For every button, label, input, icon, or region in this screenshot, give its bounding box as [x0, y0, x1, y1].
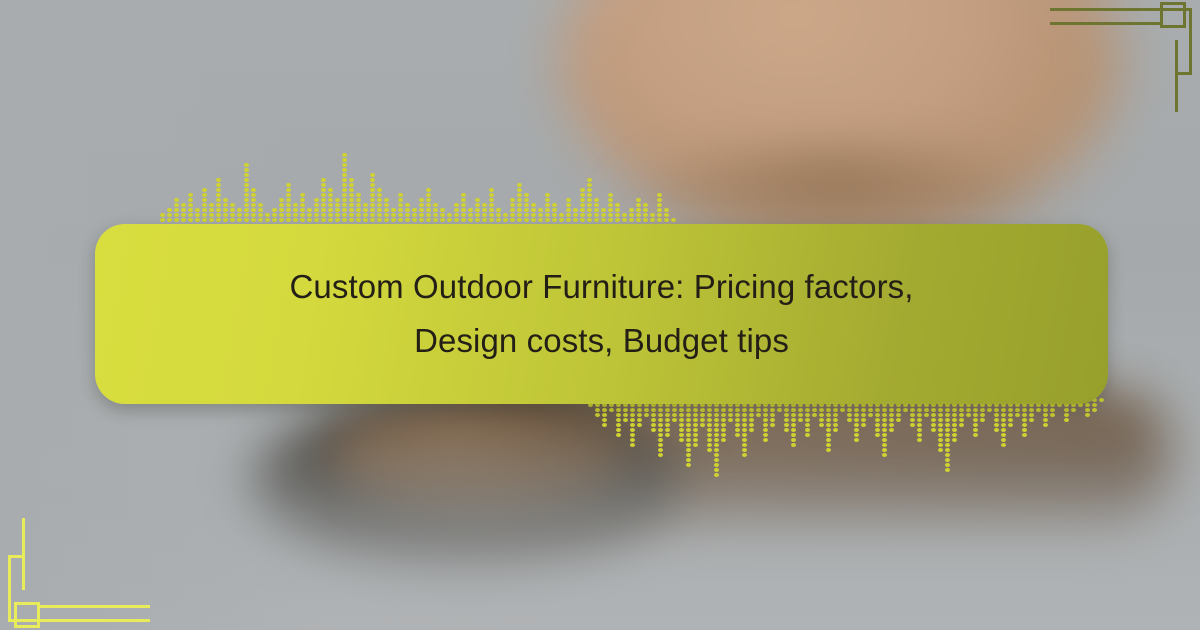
- waveform-dot: [517, 208, 522, 212]
- waveform-dot: [349, 208, 354, 212]
- waveform-dot: [714, 463, 719, 467]
- waveform-dot: [623, 408, 628, 412]
- waveform-dot: [896, 418, 901, 422]
- waveform-dot: [952, 408, 957, 412]
- waveform-dot: [672, 408, 677, 412]
- waveform-dot: [917, 413, 922, 417]
- waveform-dot: [1099, 398, 1104, 402]
- waveform-dot: [461, 218, 466, 222]
- waveform-dot: [587, 213, 592, 217]
- waveform-column: [580, 188, 585, 222]
- waveform-dot: [616, 418, 621, 422]
- waveform-dot: [952, 433, 957, 437]
- waveform-dot: [742, 453, 747, 457]
- waveform-dot: [370, 178, 375, 182]
- waveform-dot: [721, 433, 726, 437]
- waveform-column: [615, 203, 620, 222]
- waveform-dot: [321, 213, 326, 217]
- waveform-dot: [384, 218, 389, 222]
- waveform-dot: [216, 193, 221, 197]
- waveform-dot: [286, 183, 291, 187]
- waveform-dot: [686, 428, 691, 432]
- waveform-dot: [1092, 408, 1097, 412]
- waveform-dot: [335, 213, 340, 217]
- waveform-dot: [545, 203, 550, 207]
- waveform-column: [538, 208, 543, 222]
- waveform-dot: [938, 418, 943, 422]
- waveform-dot: [356, 193, 361, 197]
- waveform-dot: [545, 193, 550, 197]
- waveform-dot: [826, 438, 831, 442]
- waveform-dot: [679, 413, 684, 417]
- waveform-dot: [938, 413, 943, 417]
- waveform-dot: [328, 213, 333, 217]
- waveform-column: [679, 398, 684, 442]
- waveform-column: [573, 208, 578, 222]
- waveform-dot: [209, 208, 214, 212]
- waveform-dot: [861, 413, 866, 417]
- waveform-column: [1001, 398, 1006, 447]
- bracket-inner-horizontal: [40, 605, 150, 608]
- waveform-dot: [882, 448, 887, 452]
- waveform-dot: [335, 208, 340, 212]
- waveform-dot: [833, 408, 838, 412]
- waveform-dot: [314, 213, 319, 217]
- waveform-column: [629, 208, 634, 222]
- waveform-dot: [538, 208, 543, 212]
- waveform-dot: [742, 433, 747, 437]
- waveform-dot: [517, 188, 522, 192]
- waveform-dot: [349, 178, 354, 182]
- waveform-dot: [1001, 413, 1006, 417]
- waveform-dot: [412, 208, 417, 212]
- waveform-dot: [805, 408, 810, 412]
- waveform-column: [447, 213, 452, 222]
- waveform-dot: [398, 213, 403, 217]
- waveform-dot: [665, 413, 670, 417]
- waveform-dot: [679, 433, 684, 437]
- waveform-dot: [896, 408, 901, 412]
- waveform-dot: [468, 208, 473, 212]
- waveform-column: [826, 398, 831, 452]
- waveform-dot: [580, 213, 585, 217]
- waveform-dot: [1029, 418, 1034, 422]
- waveform-column: [314, 198, 319, 222]
- waveform-dot: [608, 203, 613, 207]
- waveform-dot: [629, 218, 634, 222]
- waveform-column: [671, 218, 676, 222]
- waveform-dot: [686, 418, 691, 422]
- waveform-dot: [763, 433, 768, 437]
- waveform-column: [321, 178, 326, 222]
- waveform-dot: [952, 418, 957, 422]
- waveform-dot: [244, 188, 249, 192]
- waveform-dot: [300, 193, 305, 197]
- waveform-dot: [1043, 408, 1048, 412]
- waveform-dot: [707, 438, 712, 442]
- waveform-dot: [342, 173, 347, 177]
- waveform-dot: [307, 208, 312, 212]
- waveform-column: [650, 213, 655, 222]
- waveform-dot: [349, 193, 354, 197]
- waveform-dot: [693, 418, 698, 422]
- waveform-dot: [573, 213, 578, 217]
- waveform-dot: [328, 198, 333, 202]
- waveform-dot: [595, 413, 600, 417]
- waveform-dot: [630, 428, 635, 432]
- waveform-column: [223, 198, 228, 222]
- waveform-dot: [658, 418, 663, 422]
- waveform-dot: [791, 423, 796, 427]
- waveform-dot: [651, 428, 656, 432]
- waveform-dot: [531, 208, 536, 212]
- waveform-dot: [917, 433, 922, 437]
- waveform-dot: [216, 198, 221, 202]
- waveform-dot: [686, 438, 691, 442]
- waveform-dot: [671, 218, 676, 222]
- waveform-dot: [356, 218, 361, 222]
- waveform-dot: [377, 213, 382, 217]
- waveform-dot: [461, 193, 466, 197]
- waveform-dot: [854, 418, 859, 422]
- waveform-dot: [237, 213, 242, 217]
- waveform-dot: [847, 413, 852, 417]
- waveform-dot: [664, 208, 669, 212]
- waveform-column: [174, 198, 179, 222]
- waveform-dot: [1001, 428, 1006, 432]
- waveform-dot: [587, 218, 592, 222]
- waveform-dot: [300, 213, 305, 217]
- waveform-dot: [202, 218, 207, 222]
- waveform-dot: [202, 188, 207, 192]
- waveform-dot: [342, 188, 347, 192]
- waveform-dot: [1015, 413, 1020, 417]
- waveform-dot: [910, 418, 915, 422]
- waveform-column: [917, 398, 922, 442]
- waveform-dot: [559, 213, 564, 217]
- waveform-dot: [286, 218, 291, 222]
- page-title: Custom Outdoor Furniture: Pricing factor…: [151, 260, 1052, 368]
- waveform-column: [363, 203, 368, 222]
- waveform-dot: [707, 443, 712, 447]
- waveform-dot: [363, 208, 368, 212]
- waveform-dot: [903, 408, 908, 412]
- waveform-dot: [707, 418, 712, 422]
- waveform-dot: [931, 428, 936, 432]
- waveform-dot: [959, 413, 964, 417]
- waveform-dot: [938, 433, 943, 437]
- waveform-dot: [938, 428, 943, 432]
- waveform-dot: [580, 193, 585, 197]
- waveform-dot: [784, 418, 789, 422]
- waveform-dot: [861, 408, 866, 412]
- waveform-dot: [573, 208, 578, 212]
- waveform-dot: [630, 408, 635, 412]
- bracket-joint: [8, 555, 25, 558]
- waveform-dot: [945, 433, 950, 437]
- waveform-dot: [370, 193, 375, 197]
- waveform-column: [742, 398, 747, 457]
- waveform-dot: [805, 433, 810, 437]
- waveform-dot: [594, 208, 599, 212]
- waveform-dot: [160, 213, 165, 217]
- waveform-dot: [693, 408, 698, 412]
- waveform-dot: [363, 213, 368, 217]
- waveform-dot: [791, 433, 796, 437]
- waveform-dot: [1022, 413, 1027, 417]
- waveform-dot: [426, 208, 431, 212]
- waveform-dot: [1029, 408, 1034, 412]
- waveform-dot: [693, 443, 698, 447]
- waveform-column: [552, 203, 557, 222]
- waveform-dot: [952, 423, 957, 427]
- waveform-dot: [594, 203, 599, 207]
- waveform-dot: [594, 213, 599, 217]
- waveform-dot: [945, 458, 950, 462]
- waveform-dot: [945, 413, 950, 417]
- waveform-dot: [616, 408, 621, 412]
- waveform-dot: [854, 413, 859, 417]
- waveform-dot: [1008, 413, 1013, 417]
- waveform-column: [335, 198, 340, 222]
- waveform-dot: [454, 208, 459, 212]
- waveform-dot: [300, 218, 305, 222]
- waveform-dot: [356, 213, 361, 217]
- bracket-corner-square: [14, 602, 40, 628]
- waveform-dot: [244, 178, 249, 182]
- waveform-dot: [1085, 408, 1090, 412]
- waveform-dot: [293, 213, 298, 217]
- waveform-dot: [363, 218, 368, 222]
- waveform-dot: [398, 218, 403, 222]
- waveform-dot: [882, 408, 887, 412]
- waveform-dot: [728, 413, 733, 417]
- waveform-dot: [826, 443, 831, 447]
- waveform-dot: [973, 408, 978, 412]
- waveform-dot: [615, 213, 620, 217]
- waveform-dot: [749, 423, 754, 427]
- waveform-dot: [461, 203, 466, 207]
- waveform-dot: [398, 203, 403, 207]
- waveform-dot: [707, 413, 712, 417]
- waveform-dot: [938, 408, 943, 412]
- waveform-dot: [174, 203, 179, 207]
- waveform-dot: [286, 193, 291, 197]
- waveform-dot: [945, 408, 950, 412]
- waveform-dot: [510, 203, 515, 207]
- waveform-dot: [728, 408, 733, 412]
- waveform-dot: [426, 188, 431, 192]
- waveform-dot: [735, 408, 740, 412]
- waveform-dot: [980, 418, 985, 422]
- waveform-dot: [181, 208, 186, 212]
- waveform-dot: [279, 203, 284, 207]
- waveform-dot: [959, 423, 964, 427]
- waveform-dot: [791, 438, 796, 442]
- waveform-dot: [875, 408, 880, 412]
- waveform-dot: [370, 188, 375, 192]
- waveform-dot: [657, 198, 662, 202]
- waveform-column: [209, 203, 214, 222]
- waveform-dot: [342, 218, 347, 222]
- waveform-dot: [342, 178, 347, 182]
- waveform-dot: [686, 413, 691, 417]
- waveform-dot: [587, 203, 592, 207]
- waveform-dot: [1064, 413, 1069, 417]
- waveform-dot: [587, 208, 592, 212]
- waveform-dot: [293, 208, 298, 212]
- bracket-outer-horizontal: [22, 619, 150, 622]
- waveform-dot: [321, 193, 326, 197]
- waveform-dot: [798, 418, 803, 422]
- waveform-dot: [524, 218, 529, 222]
- waveform-column: [559, 213, 564, 222]
- waveform-dot: [223, 198, 228, 202]
- waveform-dot: [314, 198, 319, 202]
- waveform-dot: [854, 438, 859, 442]
- bracket-inner-vertical: [22, 518, 25, 590]
- waveform-dot: [321, 183, 326, 187]
- waveform-dot: [377, 218, 382, 222]
- waveform-dot: [230, 218, 235, 222]
- waveform-dot: [714, 433, 719, 437]
- waveform-dot: [279, 218, 284, 222]
- waveform-dot: [342, 168, 347, 172]
- waveform-dot: [875, 433, 880, 437]
- waveform-column: [531, 203, 536, 222]
- waveform-dot: [482, 213, 487, 217]
- waveform-dot: [735, 413, 740, 417]
- waveform-dot: [244, 208, 249, 212]
- waveform-dot: [945, 453, 950, 457]
- waveform-dot: [419, 208, 424, 212]
- title-card: Custom Outdoor Furniture: Pricing factor…: [95, 224, 1108, 404]
- waveform-dot: [735, 433, 740, 437]
- waveform-dot: [517, 218, 522, 222]
- waveform-dot: [1022, 408, 1027, 412]
- waveform-dot: [496, 208, 501, 212]
- waveform-dot: [798, 413, 803, 417]
- waveform-dot: [721, 418, 726, 422]
- waveform-dot: [868, 413, 873, 417]
- waveform-column: [475, 198, 480, 222]
- waveform-dot: [615, 218, 620, 222]
- waveform-column: [356, 193, 361, 222]
- waveform-dot: [966, 413, 971, 417]
- waveform-dot: [216, 208, 221, 212]
- waveform-dot: [945, 443, 950, 447]
- waveform-dot: [384, 198, 389, 202]
- waveform-dot: [910, 408, 915, 412]
- waveform-dot: [622, 213, 627, 217]
- waveform-dot: [510, 208, 515, 212]
- waveform-dot: [1001, 433, 1006, 437]
- waveform-dot: [349, 183, 354, 187]
- waveform-dot: [328, 193, 333, 197]
- waveform-dot: [833, 423, 838, 427]
- waveform-dot: [552, 213, 557, 217]
- waveform-dot: [805, 428, 810, 432]
- waveform-dot: [791, 418, 796, 422]
- waveform-dot: [258, 203, 263, 207]
- waveform-dot: [370, 213, 375, 217]
- waveform-dot: [454, 218, 459, 222]
- waveform-dot: [195, 208, 200, 212]
- waveform-dot: [601, 218, 606, 222]
- waveform-column: [391, 208, 396, 222]
- waveform-dot: [286, 198, 291, 202]
- waveform-dot: [209, 218, 214, 222]
- waveform-dot: [349, 213, 354, 217]
- waveform-dot: [805, 418, 810, 422]
- waveform-dot: [714, 413, 719, 417]
- waveform-dot: [980, 413, 985, 417]
- waveform-column: [566, 198, 571, 222]
- waveform-dot: [160, 218, 165, 222]
- waveform-dot: [623, 413, 628, 417]
- waveform-dot: [188, 213, 193, 217]
- waveform-dot: [475, 203, 480, 207]
- waveform-dot: [938, 443, 943, 447]
- waveform-dot: [854, 428, 859, 432]
- waveform-dot: [321, 218, 326, 222]
- waveform-dot: [665, 428, 670, 432]
- waveform-dot: [714, 443, 719, 447]
- waveform-dot: [896, 413, 901, 417]
- waveform-dot: [1022, 433, 1027, 437]
- waveform-dot: [342, 153, 347, 157]
- waveform-dot: [889, 418, 894, 422]
- waveform-dot: [209, 203, 214, 207]
- waveform-dot: [636, 203, 641, 207]
- waveform-dot: [798, 408, 803, 412]
- waveform-dot: [756, 413, 761, 417]
- waveform-dot: [1015, 408, 1020, 412]
- waveform-dot: [763, 428, 768, 432]
- waveform-column: [293, 203, 298, 222]
- bracket-inner-vertical: [1175, 40, 1178, 112]
- waveform-dot: [749, 418, 754, 422]
- waveform-dot: [707, 433, 712, 437]
- corner-bracket-top-right-icon: [1050, 0, 1200, 110]
- waveform-dot: [665, 418, 670, 422]
- waveform-dot: [426, 203, 431, 207]
- waveform-column: [272, 208, 277, 222]
- waveform-dot: [524, 213, 529, 217]
- waveform-dot: [1050, 408, 1055, 412]
- waveform-dot: [630, 443, 635, 447]
- waveform-column: [349, 178, 354, 222]
- waveform-dot: [952, 413, 957, 417]
- waveform-dot: [658, 428, 663, 432]
- waveform-dot: [847, 408, 852, 412]
- waveform-dot: [931, 418, 936, 422]
- waveform-dot: [882, 433, 887, 437]
- waveform-dot: [875, 418, 880, 422]
- waveform-dot: [637, 413, 642, 417]
- waveform-column: [300, 193, 305, 222]
- waveform-dot: [889, 408, 894, 412]
- waveform-dot: [258, 208, 263, 212]
- waveform-dot: [882, 438, 887, 442]
- waveform-dot: [342, 158, 347, 162]
- waveform-dot: [216, 213, 221, 217]
- waveform-dot: [938, 438, 943, 442]
- waveform-column: [707, 398, 712, 452]
- waveform-dot: [735, 423, 740, 427]
- waveform-dot: [791, 428, 796, 432]
- waveform-dot: [938, 448, 943, 452]
